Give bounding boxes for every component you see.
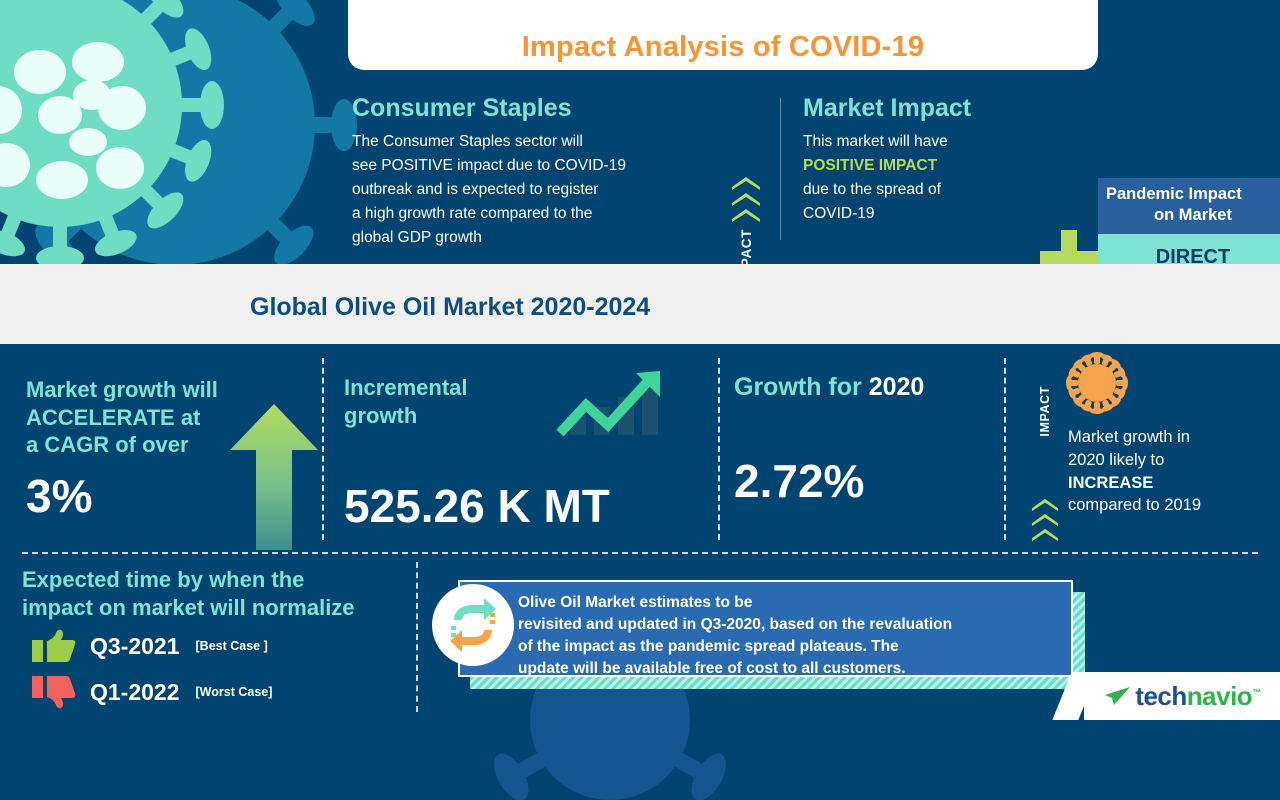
impact-description-2020: Market growth in 2020 likely to INCREASE… — [1068, 426, 1280, 517]
consumer-staples-heading: Consumer Staples — [352, 94, 712, 123]
impact-line-1: Market growth in — [1068, 426, 1280, 449]
note-line-2: revisited and updated in Q3-2020, based … — [518, 614, 1063, 636]
market-line-4: COVID-19 — [803, 202, 1073, 226]
consumer-line-5: global GDP growth — [352, 226, 712, 250]
growth-2020-stat: Growth for 2020 2.72% — [734, 372, 994, 508]
worst-case-quarter: Q1-2022 — [90, 679, 180, 706]
cagr-label: Market growth will ACCELERATE at a CAGR … — [26, 376, 256, 459]
pandemic-header-line-2: on Market — [1106, 205, 1280, 226]
impact-line-4: compared to 2019 — [1068, 494, 1280, 517]
market-line-1: This market will have — [803, 130, 1073, 154]
technavio-logo: technavio™ — [1084, 672, 1280, 720]
chevron-up-icon — [1031, 513, 1059, 527]
note-text: Olive Oil Market estimates to be revisit… — [518, 592, 1063, 680]
incremental-label-line-1: Incremental — [344, 374, 584, 402]
impact-line-3-bold: INCREASE — [1068, 472, 1280, 495]
consumer-staples-panel: Consumer Staples The Consumer Staples se… — [352, 94, 712, 250]
normalize-title-line-2: impact on market will normalize — [22, 594, 442, 622]
pandemic-header-line-1: Pandemic Impact — [1106, 184, 1280, 205]
incremental-label-line-2: growth — [344, 402, 584, 430]
thumbs-up-icon — [32, 628, 76, 664]
incremental-growth-value: 525.26 K MT — [344, 479, 584, 533]
refresh-cycle-badge — [432, 584, 514, 666]
infographic-canvas: Impact Analysis of COVID-19 Consumer Sta… — [0, 0, 1280, 720]
header-title-card: Impact Analysis of COVID-19 — [348, 0, 1098, 70]
refresh-cycle-icon — [444, 596, 502, 654]
trending-up-chart-icon — [556, 367, 668, 439]
chevron-up-icon — [731, 208, 761, 223]
impact-indicator-2020: IMPACT — [1028, 386, 1062, 542]
consumer-line-4: a high growth rate compared to the — [352, 202, 712, 226]
cagr-label-line-2: ACCELERATE at — [26, 404, 256, 432]
impact-line-2: 2020 likely to — [1068, 449, 1280, 472]
consumer-line-1: The Consumer Staples sector will — [352, 130, 712, 154]
cagr-value: 3% — [26, 469, 256, 523]
stats-divider-1 — [322, 358, 324, 540]
best-case-quarter: Q3-2021 — [90, 633, 180, 660]
note-line-4: update will be available free of cost to… — [518, 658, 1063, 680]
note-box: Olive Oil Market estimates to be revisit… — [458, 580, 1073, 677]
growth-2020-label-teal: Growth for — [734, 373, 869, 401]
growth-2020-label-year: 2020 — [869, 373, 925, 401]
market-line-3: due to the spread of — [803, 178, 1073, 202]
chevron-up-icon — [1031, 498, 1059, 512]
market-impact-panel: Market Impact This market will have POSI… — [803, 94, 1073, 226]
best-case-tag: [Best Case ] — [196, 639, 268, 653]
coronavirus-orange-icon — [1066, 352, 1128, 414]
logo-part-tech: tech — [1135, 681, 1186, 711]
stats-divider-2 — [718, 358, 720, 540]
chevron-up-stack-icon — [731, 176, 761, 223]
stats-divider-3 — [1004, 358, 1006, 540]
technavio-mark-icon — [1103, 684, 1133, 708]
consumer-staples-body: The Consumer Staples sector will see POS… — [352, 130, 712, 250]
consumer-line-2: see POSITIVE impact due to COVID-19 — [352, 154, 712, 178]
thumbs-down-icon — [32, 674, 76, 710]
chevron-up-icon — [731, 176, 761, 191]
incremental-growth-label: Incremental growth — [344, 374, 584, 429]
report-title: Global Olive Oil Market 2020-2024 — [250, 293, 650, 322]
panel-divider-left — [780, 98, 781, 240]
top-info-row: Consumer Staples The Consumer Staples se… — [0, 80, 1280, 264]
note-line-1: Olive Oil Market estimates to be — [518, 592, 1063, 614]
best-case-row: Q3-2021 [Best Case ] — [32, 628, 268, 664]
cagr-stat: Market growth will ACCELERATE at a CAGR … — [26, 376, 256, 523]
market-impact-heading: Market Impact — [803, 94, 1073, 123]
page-title: Impact Analysis of COVID-19 — [522, 31, 924, 64]
logo-trademark: ™ — [1252, 687, 1261, 697]
impact-label-2020: IMPACT — [1038, 386, 1052, 437]
worst-case-row: Q1-2022 [Worst Case] — [32, 674, 272, 710]
chevron-up-icon — [1031, 528, 1059, 542]
market-highlight: POSITIVE IMPACT — [803, 154, 1073, 178]
note-line-3: of the impact as the pandemic spread pla… — [518, 636, 1063, 658]
normalize-title-line-1: Expected time by when the — [22, 566, 442, 594]
growth-2020-label: Growth for 2020 — [734, 372, 994, 402]
growth-2020-value: 2.72% — [734, 454, 994, 508]
chevron-up-stack-icon-2 — [1031, 498, 1059, 542]
chevron-up-icon — [731, 192, 761, 207]
normalize-title: Expected time by when the impact on mark… — [22, 566, 442, 621]
impact-block-2020: IMPACT Market growth in 2020 likely to I… — [1020, 352, 1280, 548]
arrow-up-icon — [228, 400, 320, 552]
incremental-growth-stat: Incremental growth 525.26 K MT — [344, 374, 584, 533]
worst-case-tag: [Worst Case] — [196, 685, 273, 699]
logo-part-navio: navio — [1187, 681, 1252, 711]
technavio-wordmark: technavio™ — [1135, 681, 1260, 712]
pandemic-impact-header: Pandemic Impact on Market — [1098, 178, 1280, 234]
market-impact-body: This market will have POSITIVE IMPACT du… — [803, 130, 1073, 226]
cagr-label-line-1: Market growth will — [26, 376, 256, 404]
consumer-line-3: outbreak and is expected to register — [352, 178, 712, 202]
cagr-label-line-3: a CAGR of over — [26, 431, 256, 459]
